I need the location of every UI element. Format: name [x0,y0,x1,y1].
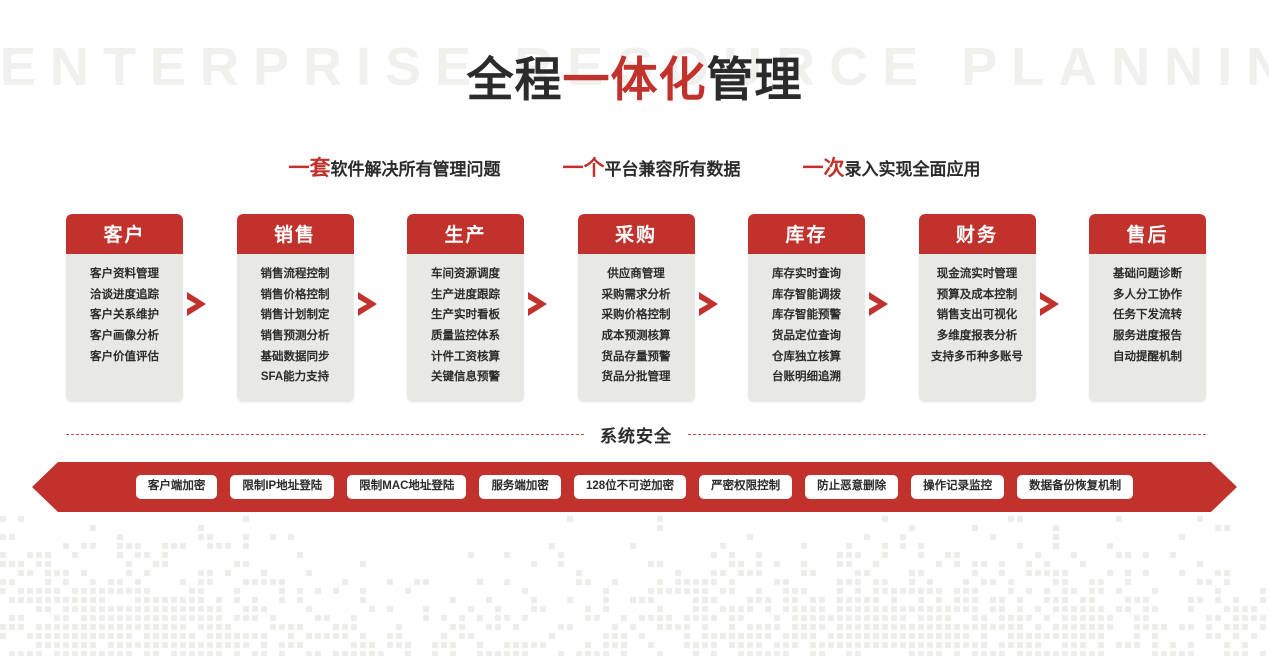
page-title: 全程一体化管理 [0,41,1269,110]
subtitle-item: 一个平台兼容所有数据 [563,152,741,182]
process-card-item[interactable]: 供应商管理 [578,268,695,281]
security-tag[interactable]: 客户端加密 [136,475,218,499]
security-tag[interactable]: 防止恶意删除 [805,475,898,499]
process-card-item[interactable]: 质量监控体系 [407,330,524,343]
process-card-item[interactable]: 关键信息预警 [407,371,524,384]
process-column-wrapper: 采购供应商管理采购需求分析采购价格控制成本预测核算货品存量预警货品分批管理 [578,214,723,402]
process-columns: 客户客户资料管理洽谈进度追踪客户关系维护客户画像分析客户价值评估销售销售流程控制… [66,214,1206,402]
process-card-item[interactable]: 成本预测核算 [578,330,695,343]
process-card-item[interactable]: 生产实时看板 [407,309,524,322]
subtitle-rest: 平台兼容所有数据 [605,160,741,179]
process-card-item[interactable]: 客户价值评估 [66,351,183,364]
process-card-售后[interactable]: 售后基础问题诊断多人分工协作任务下发流转服务进度报告自动提醒机制 [1089,214,1206,402]
security-tag-list: 客户端加密限制IP地址登陆限制MAC地址登陆服务端加密128位不可逆加密严密权限… [32,462,1237,512]
process-card-item[interactable]: 生产进度跟踪 [407,289,524,302]
title-part-1: 全程 [467,53,563,106]
security-bar: 客户端加密限制IP地址登陆限制MAC地址登陆服务端加密128位不可逆加密严密权限… [32,462,1237,512]
process-card-item[interactable]: 库存智能预警 [748,309,865,322]
process-card-item[interactable]: 多维度报表分析 [919,330,1036,343]
process-card-items: 客户资料管理洽谈进度追踪客户关系维护客户画像分析客户价值评估 [66,254,183,402]
process-card-item[interactable]: 货品存量预警 [578,351,695,364]
process-column-wrapper: 财务现金流实时管理预算及成本控制销售支出可视化多维度报表分析支持多币种多账号 [919,214,1064,402]
process-card-items: 现金流实时管理预算及成本控制销售支出可视化多维度报表分析支持多币种多账号 [919,254,1036,402]
process-card-items: 车间资源调度生产进度跟踪生产实时看板质量监控体系计件工资核算关键信息预警 [407,254,524,402]
process-column-wrapper: 库存库存实时查询库存智能调拨库存智能预警货品定位查询仓库独立核算台账明细追溯 [748,214,893,402]
process-card-title: 采购 [578,214,695,254]
security-tag[interactable]: 服务端加密 [479,475,561,499]
flow-arrow-icon [865,214,893,394]
process-card-item[interactable]: 客户画像分析 [66,330,183,343]
process-card-item[interactable]: 基础数据同步 [237,351,354,364]
flow-arrow-icon [695,214,723,394]
subtitle-rest: 录入实现全面应用 [845,160,981,179]
process-card-财务[interactable]: 财务现金流实时管理预算及成本控制销售支出可视化多维度报表分析支持多币种多账号 [919,214,1036,402]
flow-arrow-icon [354,214,382,394]
process-card-item[interactable]: 销售支出可视化 [919,309,1036,322]
arrow-right-icon [1038,291,1062,317]
process-card-item[interactable]: 洽谈进度追踪 [66,289,183,302]
subtitle-item: 一套软件解决所有管理问题 [289,152,501,182]
subtitle-lead: 一套 [289,157,331,180]
security-tag[interactable]: 数据备份恢复机制 [1017,475,1133,499]
process-card-item[interactable]: 采购价格控制 [578,309,695,322]
process-card-销售[interactable]: 销售销售流程控制销售价格控制销售计划制定销售预测分析基础数据同步SFA能力支持 [237,214,354,402]
process-card-item[interactable]: 台账明细追溯 [748,371,865,384]
process-card-title: 售后 [1089,214,1206,254]
infographic-root: ENTERPRISE RESOURCE PLANNING 全程一体化管理 一套软… [0,0,1269,656]
process-card-title: 销售 [237,214,354,254]
process-card-title: 生产 [407,214,524,254]
arrow-right-icon [697,291,721,317]
process-card-item[interactable]: 支持多币种多账号 [919,351,1036,364]
process-card-item[interactable]: 库存实时查询 [748,268,865,281]
process-card-item[interactable]: 销售预测分析 [237,330,354,343]
process-card-items: 库存实时查询库存智能调拨库存智能预警货品定位查询仓库独立核算台账明细追溯 [748,254,865,402]
process-card-item[interactable]: 销售价格控制 [237,289,354,302]
flow-arrow-icon [183,214,211,394]
process-column-wrapper: 生产车间资源调度生产进度跟踪生产实时看板质量监控体系计件工资核算关键信息预警 [407,214,552,402]
process-card-item[interactable]: 库存智能调拨 [748,289,865,302]
process-card-title: 财务 [919,214,1036,254]
process-card-item[interactable]: 预算及成本控制 [919,289,1036,302]
security-tag[interactable]: 128位不可逆加密 [574,475,686,499]
arrow-right-icon [526,291,550,317]
process-card-库存[interactable]: 库存库存实时查询库存智能调拨库存智能预警货品定位查询仓库独立核算台账明细追溯 [748,214,865,402]
process-card-items: 供应商管理采购需求分析采购价格控制成本预测核算货品存量预警货品分批管理 [578,254,695,402]
process-card-title: 客户 [66,214,183,254]
subtitle-lead: 一个 [563,157,605,180]
process-card-客户[interactable]: 客户客户资料管理洽谈进度追踪客户关系维护客户画像分析客户价值评估 [66,214,183,402]
process-card-item[interactable]: 客户关系维护 [66,309,183,322]
process-card-item[interactable]: SFA能力支持 [237,371,354,384]
process-card-item[interactable]: 多人分工协作 [1089,289,1206,302]
arrow-right-icon [185,291,209,317]
title-part-2: 管理 [707,53,803,106]
flow-arrow-icon [1036,214,1064,394]
title-highlight: 一体化 [563,53,707,106]
process-card-item[interactable]: 基础问题诊断 [1089,268,1206,281]
process-card-item[interactable]: 客户资料管理 [66,268,183,281]
process-card-item[interactable]: 现金流实时管理 [919,268,1036,281]
process-card-item[interactable]: 货品分批管理 [578,371,695,384]
subtitle-lead: 一次 [803,157,845,180]
security-label: 系统安全 [600,422,672,447]
process-card-item[interactable]: 自动提醒机制 [1089,351,1206,364]
process-card-item[interactable]: 货品定位查询 [748,330,865,343]
flow-arrow-icon [524,214,552,394]
process-card-title: 库存 [748,214,865,254]
process-card-item[interactable]: 车间资源调度 [407,268,524,281]
process-card-item[interactable]: 计件工资核算 [407,351,524,364]
process-column-wrapper: 客户客户资料管理洽谈进度追踪客户关系维护客户画像分析客户价值评估 [66,214,211,402]
subtitle-item: 一次录入实现全面应用 [803,152,981,182]
process-card-item[interactable]: 销售计划制定 [237,309,354,322]
subtitle-rest: 软件解决所有管理问题 [331,160,501,179]
security-tag[interactable]: 操作记录监控 [911,475,1004,499]
process-card-items: 销售流程控制销售价格控制销售计划制定销售预测分析基础数据同步SFA能力支持 [237,254,354,402]
process-card-item[interactable]: 采购需求分析 [578,289,695,302]
process-card-item[interactable]: 仓库独立核算 [748,351,865,364]
arrow-right-icon [867,291,891,317]
security-divider: 系统安全 [66,422,1206,447]
security-tag[interactable]: 限制MAC地址登陆 [347,475,466,499]
dotted-world-map-decoration [0,516,1269,656]
process-card-item[interactable]: 任务下发流转 [1089,309,1206,322]
process-column-wrapper: 销售销售流程控制销售价格控制销售计划制定销售预测分析基础数据同步SFA能力支持 [237,214,382,402]
subtitle-row: 一套软件解决所有管理问题一个平台兼容所有数据一次录入实现全面应用 [0,152,1269,182]
process-column-wrapper: 售后基础问题诊断多人分工协作任务下发流转服务进度报告自动提醒机制 [1089,214,1206,402]
divider-dash-left [66,434,584,435]
security-tag[interactable]: 严密权限控制 [699,475,792,499]
process-card-采购[interactable]: 采购供应商管理采购需求分析采购价格控制成本预测核算货品存量预警货品分批管理 [578,214,695,402]
divider-dash-right [688,434,1206,435]
security-tag[interactable]: 限制IP地址登陆 [230,475,334,499]
process-card-生产[interactable]: 生产车间资源调度生产进度跟踪生产实时看板质量监控体系计件工资核算关键信息预警 [407,214,524,402]
process-card-item[interactable]: 销售流程控制 [237,268,354,281]
arrow-right-icon [356,291,380,317]
process-card-items: 基础问题诊断多人分工协作任务下发流转服务进度报告自动提醒机制 [1089,254,1206,402]
process-card-item[interactable]: 服务进度报告 [1089,330,1206,343]
